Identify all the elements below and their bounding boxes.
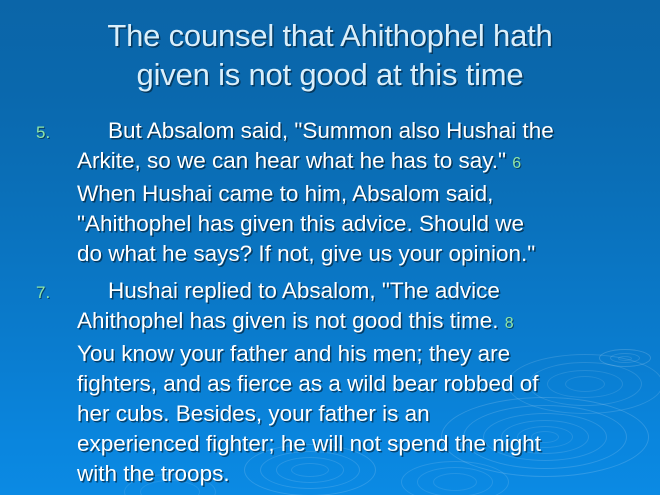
text-run: experienced fighter; he will not spend t… bbox=[77, 431, 541, 456]
scripture-list: 5. But Absalom said, "Summon also Hushai… bbox=[28, 116, 643, 495]
text-line: Hushai replied to Absalom, "The advice bbox=[77, 276, 643, 306]
text-run: "Ahithophel has given this advice. Shoul… bbox=[77, 211, 524, 236]
text-run: But Absalom said, "Summon also Hushai th… bbox=[108, 118, 554, 143]
list-item-marker: 5. bbox=[36, 118, 50, 148]
text-line: experienced fighter; he will not spend t… bbox=[77, 429, 643, 459]
text-line: fighters, and as fierce as a wild bear r… bbox=[77, 369, 643, 399]
slide-title: The counsel that Ahithophel hathgiven is… bbox=[30, 16, 630, 94]
paragraph-indent bbox=[77, 276, 108, 306]
text-line: with the troops. bbox=[77, 459, 643, 489]
text-run: her cubs. Besides, your father is an bbox=[77, 401, 430, 426]
verse-number: 6 bbox=[512, 155, 521, 172]
slide-content: The counsel that Ahithophel hathgiven is… bbox=[0, 0, 660, 495]
text-run: When Hushai came to him, Absalom said, bbox=[77, 181, 493, 206]
text-run: do what he says? If not, give us your op… bbox=[77, 241, 535, 266]
verse-number: 8 bbox=[505, 315, 514, 332]
list-item: 5. But Absalom said, "Summon also Hushai… bbox=[28, 116, 643, 269]
text-run: Ahithophel has given is not good this ti… bbox=[77, 308, 505, 333]
text-line: You know your father and his men; they a… bbox=[77, 339, 643, 369]
text-run: You know your father and his men; they a… bbox=[77, 341, 510, 366]
text-run: fighters, and as fierce as a wild bear r… bbox=[77, 371, 539, 396]
title-line-1: The counsel that Ahithophel hath bbox=[30, 16, 630, 55]
list-item-marker: 7. bbox=[36, 278, 50, 308]
paragraph-indent bbox=[77, 116, 108, 146]
text-line: do what he says? If not, give us your op… bbox=[77, 239, 643, 269]
text-line: "Ahithophel has given this advice. Shoul… bbox=[77, 209, 643, 239]
title-line-2: given is not good at this time bbox=[30, 55, 630, 94]
text-run: Hushai replied to Absalom, "The advice bbox=[108, 278, 500, 303]
list-item: 7. Hushai replied to Absalom, "The advic… bbox=[28, 276, 643, 489]
text-line: When Hushai came to him, Absalom said, bbox=[77, 179, 643, 209]
text-line: her cubs. Besides, your father is an bbox=[77, 399, 643, 429]
text-line: But Absalom said, "Summon also Hushai th… bbox=[77, 116, 643, 146]
text-line: Ahithophel has given is not good this ti… bbox=[77, 306, 643, 339]
text-run: Arkite, so we can hear what he has to sa… bbox=[77, 148, 512, 173]
slide-canvas: The counsel that Ahithophel hathgiven is… bbox=[0, 0, 660, 495]
text-run: with the troops. bbox=[77, 461, 230, 486]
text-line: Arkite, so we can hear what he has to sa… bbox=[77, 146, 643, 179]
